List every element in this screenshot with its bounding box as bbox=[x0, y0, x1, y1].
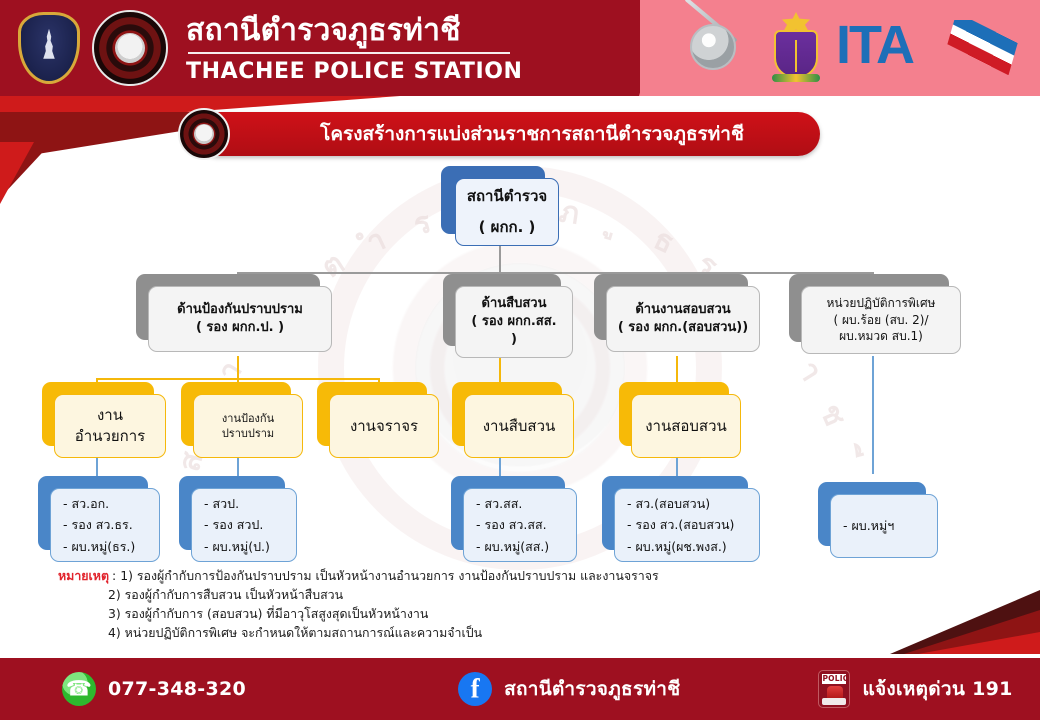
phone-icon bbox=[62, 672, 96, 706]
node-admin-staff-line-2: - ผบ.หมู่(ธร.) bbox=[63, 536, 135, 558]
footer-phone-text: 077-348-320 bbox=[108, 678, 246, 700]
node-investigate-line-1: ( รอง ผกก.(สอบสวน)) bbox=[618, 319, 748, 337]
node-admin-staff[interactable]: - สว.อก. - รอง สว.ธร. - ผบ.หมู่(ธร.) bbox=[38, 476, 160, 562]
connector-special-staff bbox=[872, 356, 874, 474]
node-suppress-staff[interactable]: - สวป. - รอง สวป. - ผบ.หมู่(ป.) bbox=[179, 476, 297, 562]
org-chart: สถานีตำรวจ ( ผกก. ) ด้านป้องกันปราบปราม … bbox=[0, 156, 1040, 568]
header-title-thai: สถานีตำรวจภูธรท่าชี bbox=[186, 12, 616, 50]
node-inquest-staff[interactable]: - สว.(สอบสวน) - รอง สว.(สอบสวน) - ผบ.หมู… bbox=[602, 476, 760, 562]
connector-root-down bbox=[499, 244, 501, 272]
node-special-line-0: หน่วยปฏิบัติการพิเศษ bbox=[827, 295, 936, 312]
node-suppress-staff-line-2: - ผบ.หมู่(ป.) bbox=[204, 536, 270, 558]
chart-title-text: โครงสร้างการแบ่งส่วนราชการสถานีตำรวจภูธร… bbox=[258, 112, 806, 156]
header-divider bbox=[188, 52, 510, 54]
corner-shard-bottom-right-bright bbox=[918, 632, 1040, 654]
node-prevent-line-1: ( รอง ผกก.ป. ) bbox=[196, 319, 284, 337]
node-detect-staff[interactable]: - สว.สส. - รอง สว.สส. - ผบ.หมู่(สส.) bbox=[451, 476, 577, 562]
node-prevent-line-0: ด้านป้องกันปราบปราม bbox=[177, 301, 303, 319]
node-admin-staff-line-1: - รอง สว.ธร. bbox=[63, 514, 133, 536]
police-badge-text: POLICE bbox=[822, 674, 846, 684]
note-item-1: 1) รองผู้กำกับการป้องกันปราบปราม เป็นหัว… bbox=[120, 566, 658, 585]
node-inquiry-line-0: ด้านสืบสวน bbox=[482, 295, 547, 313]
page-footer: 077-348-320 สถานีตำรวจภูธรท่าชี POLICE แ… bbox=[0, 658, 1040, 720]
node-root[interactable]: สถานีตำรวจ ( ผกก. ) bbox=[441, 166, 559, 246]
facebook-icon bbox=[458, 672, 492, 706]
ita-logo: ITA bbox=[836, 16, 1022, 78]
node-suppress-staff-line-1: - รอง สวป. bbox=[204, 514, 263, 536]
footer-phone[interactable]: 077-348-320 bbox=[62, 672, 246, 706]
node-root-line-0: สถานีตำรวจ bbox=[467, 186, 547, 207]
chart-title-banner: โครงสร้างการแบ่งส่วนราชการสถานีตำรวจภูธร… bbox=[196, 112, 820, 156]
note-row-4: 4) หน่วยปฏิบัติการพิเศษ จะกำหนดให้ตามสถา… bbox=[58, 623, 758, 642]
node-traffic[interactable]: งานจราจร bbox=[317, 382, 439, 458]
note-item-2: 2) รองผู้กำกับการสืบสวน เป็นหัวหน้าสืบสว… bbox=[108, 585, 343, 604]
node-special-staff-line-0: - ผบ.หมู่ฯ bbox=[843, 515, 894, 537]
header-titles: สถานีตำรวจภูธรท่าชี THACHEE POLICE STATI… bbox=[186, 12, 616, 86]
connector-prevent-down bbox=[237, 356, 239, 378]
node-suppress-line-0: งานป้องกัน bbox=[222, 411, 274, 426]
royal-thai-emblem-icon bbox=[768, 12, 824, 84]
node-inquest-staff-line-0: - สว.(สอบสวน) bbox=[627, 493, 710, 515]
node-admin-line-0: งาน bbox=[97, 405, 123, 426]
node-suppress-staff-line-0: - สวป. bbox=[204, 493, 239, 515]
node-inquest-staff-line-1: - รอง สว.(สอบสวน) bbox=[627, 514, 734, 536]
footer-emergency-text: แจ้งเหตุด่วน 191 bbox=[862, 674, 1012, 704]
node-detect-staff-line-1: - รอง สว.สส. bbox=[476, 514, 547, 536]
notes-label: หมายเหตุ bbox=[58, 566, 109, 585]
node-inquiry-line-2: ) bbox=[511, 331, 517, 349]
node-special-staff[interactable]: - ผบ.หมู่ฯ bbox=[818, 482, 938, 558]
org-chart-page: สถานีตำรวจภูธรท่าชี THACHEE POLICE STATI… bbox=[0, 0, 1040, 720]
silver-medal-icon bbox=[676, 14, 746, 80]
notes-section: หมายเหตุ : 1) รองผู้กำกับการป้องกันปราบป… bbox=[58, 566, 758, 642]
node-investigate-line-0: ด้านงานสอบสวน bbox=[635, 301, 730, 319]
node-suppress-line-1: ปราบปราม bbox=[222, 426, 274, 441]
node-special-line-1: ( ผบ.ร้อย (สบ. 2)/ bbox=[833, 312, 928, 329]
node-suppress[interactable]: งานป้องกัน ปราบปราม bbox=[181, 382, 303, 458]
node-special[interactable]: หน่วยปฏิบัติการพิเศษ ( ผบ.ร้อย (สบ. 2)/ … bbox=[789, 274, 961, 354]
node-inquest[interactable]: งานสอบสวน bbox=[619, 382, 741, 458]
police-siren-icon: POLICE bbox=[818, 670, 850, 708]
footer-facebook[interactable]: สถานีตำรวจภูธรท่าชี bbox=[458, 672, 680, 706]
node-inquest-staff-line-2: - ผบ.หมู่(ผช.พงส.) bbox=[627, 536, 727, 558]
page-header: สถานีตำรวจภูธรท่าชี THACHEE POLICE STATI… bbox=[0, 0, 1040, 96]
node-admin-line-1: อำนวยการ bbox=[75, 426, 145, 447]
node-investigate[interactable]: ด้านงานสอบสวน ( รอง ผกก.(สอบสวน)) bbox=[594, 274, 760, 352]
node-detect-staff-line-2: - ผบ.หมู่(สส.) bbox=[476, 536, 549, 558]
header-title-english: THACHEE POLICE STATION bbox=[186, 58, 616, 86]
note-row-3: 3) รองผู้กำกับการ (สอบสวน) ที่มีอาวุโสสู… bbox=[58, 604, 758, 623]
node-inquiry-line-1: ( รอง ผกก.สส. bbox=[471, 313, 556, 331]
footer-emergency[interactable]: POLICE แจ้งเหตุด่วน 191 bbox=[818, 670, 1012, 708]
node-inquest-line-0: งานสอบสวน bbox=[645, 416, 727, 437]
node-root-line-1: ( ผกก. ) bbox=[479, 217, 536, 238]
thachee-police-seal-icon bbox=[92, 10, 168, 86]
node-special-line-2: ผบ.หมวด สบ.1) bbox=[839, 328, 923, 345]
node-admin-staff-line-0: - สว.อก. bbox=[63, 493, 109, 515]
note-item-3: 3) รองผู้กำกับการ (สอบสวน) ที่มีอาวุโสสู… bbox=[108, 604, 428, 623]
note-item-4: 4) หน่วยปฏิบัติการพิเศษ จะกำหนดให้ตามสถา… bbox=[108, 623, 482, 642]
police-seal-icon bbox=[178, 108, 230, 160]
node-prevent[interactable]: ด้านป้องกันปราบปราม ( รอง ผกก.ป. ) bbox=[136, 274, 332, 352]
note-row-2: 2) รองผู้กำกับการสืบสวน เป็นหัวหน้าสืบสว… bbox=[58, 585, 758, 604]
node-inquiry[interactable]: ด้านสืบสวน ( รอง ผกก.สส. ) bbox=[443, 274, 573, 358]
node-traffic-line-0: งานจราจร bbox=[350, 416, 418, 437]
note-row-1: หมายเหตุ : 1) รองผู้กำกับการป้องกันปราบป… bbox=[58, 566, 758, 585]
node-admin[interactable]: งาน อำนวยการ bbox=[42, 382, 166, 458]
node-detect-staff-line-0: - สว.สส. bbox=[476, 493, 522, 515]
node-detect-line-0: งานสืบสวน bbox=[483, 416, 556, 437]
footer-facebook-text: สถานีตำรวจภูธรท่าชี bbox=[504, 674, 680, 704]
notes-separator: : bbox=[112, 566, 116, 585]
node-detect[interactable]: งานสืบสวน bbox=[452, 382, 574, 458]
